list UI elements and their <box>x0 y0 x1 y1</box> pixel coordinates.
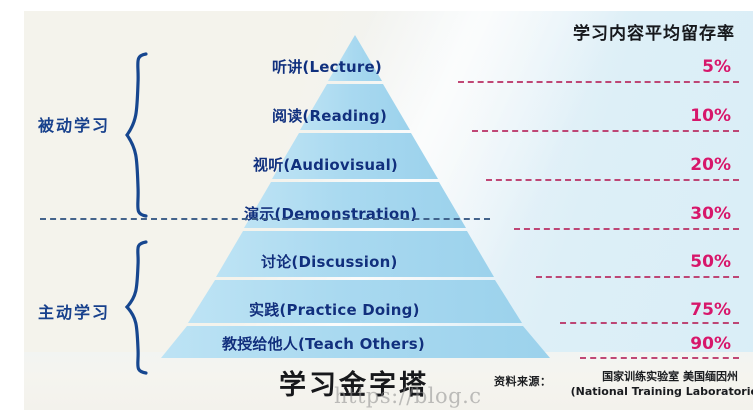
group-label-active: 主动学习 <box>38 299 110 323</box>
source-en: (National Training Laboratories) <box>571 385 753 398</box>
leader-line-practice <box>560 322 739 324</box>
source-text: 国家训练实验室 美国缅因州 (National Training Laborat… <box>571 370 753 400</box>
retention-value-10: 10% <box>690 106 731 126</box>
tier-label-reading: 阅读(Reading) <box>272 105 387 126</box>
tier-label-discussion: 讨论(Discussion) <box>261 251 398 272</box>
retention-value-5: 5% <box>702 57 731 77</box>
retention-value-90: 90% <box>690 334 731 354</box>
leader-line-discussion <box>536 276 739 278</box>
leader-line-audiovisual <box>486 179 739 181</box>
diagram-canvas: 听讲(Lecture) 阅读(Reading) 视听(Audiovisual) … <box>24 11 753 410</box>
retention-value-75: 75% <box>690 300 731 320</box>
retention-value-30: 30% <box>690 204 731 224</box>
tier-label-audiovisual: 视听(Audiovisual) <box>253 154 398 175</box>
retention-rate-header: 学习内容平均留存率 <box>573 19 735 44</box>
retention-value-20: 20% <box>690 155 731 175</box>
brace-passive <box>124 51 150 219</box>
tier-label-practice: 实践(Practice Doing) <box>249 299 420 320</box>
diagram-title: 学习金字塔 <box>279 363 429 402</box>
brace-active <box>124 239 150 375</box>
leader-line-demonstration <box>514 228 739 230</box>
passive-active-divider <box>40 218 490 220</box>
tier-label-lecture: 听讲(Lecture) <box>272 56 382 77</box>
group-label-passive: 被动学习 <box>38 112 110 136</box>
leader-line-lecture <box>458 81 739 83</box>
source-cn: 国家训练实验室 美国缅因州 <box>602 370 738 383</box>
retention-value-50: 50% <box>690 252 731 272</box>
leader-line-reading <box>472 130 739 132</box>
tier-label-demonstration: 演示(Demonstration) <box>244 203 417 224</box>
source-label: 资料来源： <box>494 373 552 389</box>
tier-label-teach-others: 教授给他人(Teach Others) <box>222 333 425 354</box>
source-attribution: 资料来源： 国家训练实验室 美国缅因州 (National Training L… <box>494 370 753 400</box>
leader-line-teach-others <box>580 357 739 359</box>
